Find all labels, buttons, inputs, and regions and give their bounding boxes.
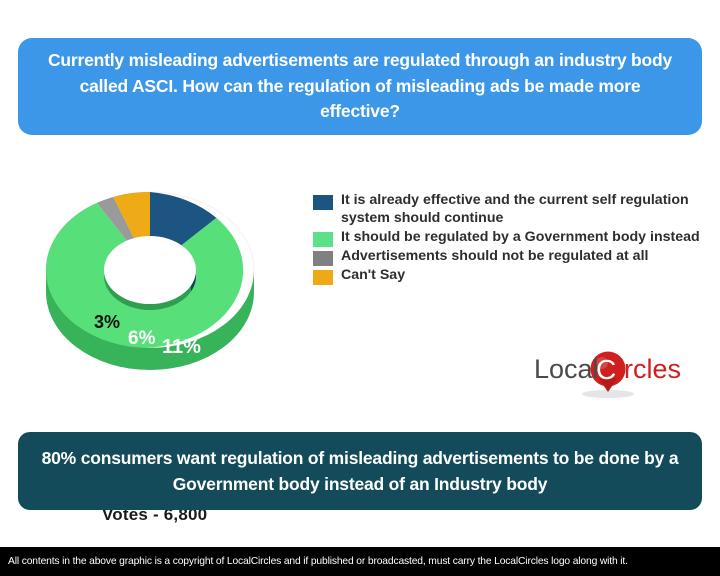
legend-item-self-regulation: It is already effective and the current … [313,192,703,228]
legend-swatch-amber [313,270,333,285]
legend-item-cant-say: Can't Say [313,267,703,285]
conclusion-banner: 80% consumers want regulation of mislead… [18,432,702,510]
question-banner: Currently misleading advertisements are … [18,38,702,135]
chart-legend: It is already effective and the current … [313,192,703,286]
conclusion-text: 80% consumers want regulation of mislead… [40,445,680,498]
question-text: Currently misleading advertisements are … [44,48,676,124]
legend-swatch-green [313,232,333,247]
legend-item-government-body: It should be regulated by a Government b… [313,229,703,247]
copyright-footer: All contents in the above graphic is a c… [0,547,720,576]
donut-graphic [20,160,280,360]
localcircles-logo-svg: Local C ircles [532,348,702,400]
logo-text-c: C [596,354,616,385]
localcircles-logo: Local C ircles [532,348,702,400]
donut-hole [104,236,196,304]
donut-svg [20,160,280,370]
legend-label-no-regulation: Advertisements should not be regulated a… [341,248,648,266]
logo-text-local: Local [534,354,599,384]
legend-label-self-regulation: It is already effective and the current … [341,192,703,228]
legend-swatch-gray [313,251,333,266]
donut-chart: 11% 80% 3% 6% Votes - 6,800 [20,150,310,395]
legend-swatch-navy [313,195,333,210]
logo-text-ircles: ircles [618,354,681,384]
legend-item-no-regulation: Advertisements should not be regulated a… [313,248,703,266]
copyright-text: All contents in the above graphic is a c… [0,556,628,567]
legend-label-government-body: It should be regulated by a Government b… [341,229,700,247]
legend-label-cant-say: Can't Say [341,267,405,285]
